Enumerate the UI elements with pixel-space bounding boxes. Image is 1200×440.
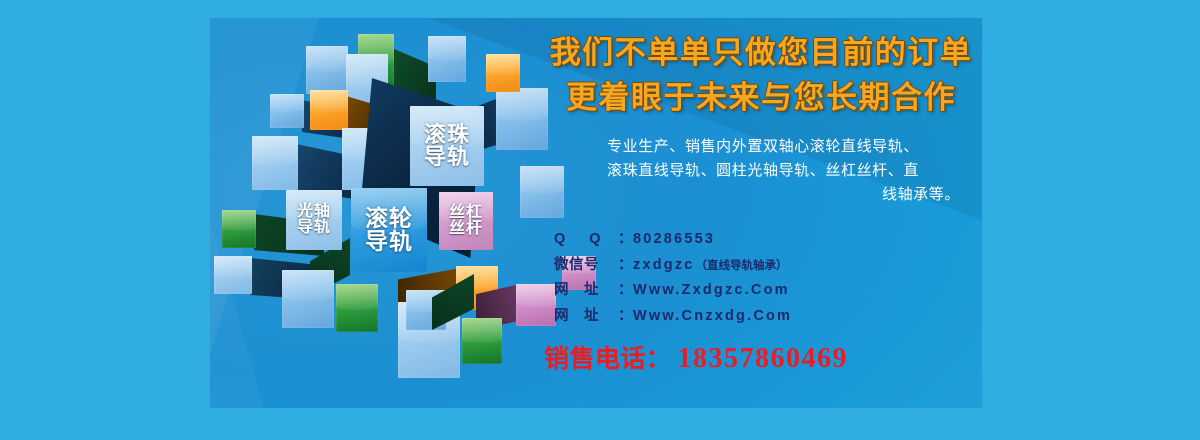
cube-face (214, 256, 252, 294)
sales-phone-number[interactable]: 18357860469 (678, 343, 849, 375)
tile-label-line2: 丝杆 (449, 221, 483, 237)
contact-value-website-2[interactable]: Www.Cnzxdg.Com (633, 308, 792, 324)
cube-decor (336, 284, 378, 332)
cube-decor (310, 90, 348, 130)
cube-face (310, 90, 348, 130)
headline-line-1: 我们不单单只做您目前的订单 (540, 32, 982, 73)
tile-label-line2: 导轨 (297, 220, 331, 236)
cube-decor (252, 136, 298, 190)
cube-face (336, 284, 378, 332)
contact-block: Q Q ： 80286553 微信号 ： zxdgzc （直线导轨轴承） 网 址… (540, 227, 982, 325)
tile-ball-rail[interactable]: 滚珠 导轨 (410, 106, 484, 186)
contact-row-wechat: 微信号 ： zxdgzc （直线导轨轴承） (554, 253, 982, 274)
contact-label: 网 址 (554, 304, 618, 325)
cube-face (462, 318, 502, 364)
contact-label: 网 址 (554, 278, 618, 299)
contact-value-wechat[interactable]: zxdgzc (633, 257, 695, 273)
contact-separator: ： (618, 304, 633, 325)
cube-face (270, 94, 304, 128)
contact-label: 微信号 (554, 253, 618, 274)
headline: 我们不单单只做您目前的订单 更着眼于未来与您长期合作 (540, 32, 982, 118)
tile-label-line1: 滚珠 (424, 124, 470, 146)
cube-face (428, 36, 466, 82)
cube-decor (306, 46, 348, 94)
cube-face (306, 46, 348, 94)
sales-phone-label: 销售电话： (544, 339, 672, 375)
tile-label-line1: 光轴 (297, 204, 331, 220)
cube-face (222, 210, 256, 248)
contact-row-website-1: 网 址 ： Www.Zxdgzc.Com (554, 278, 982, 299)
cube-decor (428, 36, 466, 82)
contact-label: Q Q (554, 231, 618, 247)
headline-line-2: 更着眼于未来与您长期合作 (540, 77, 982, 118)
cube-face (486, 54, 520, 92)
tile-screw-rod[interactable]: 丝杠 丝杆 (439, 192, 493, 250)
banner-copy-column: 我们不单单只做您目前的订单 更着眼于未来与您长期合作 专业生产、销售内外置双轴心… (540, 32, 982, 408)
contact-row-website-2: 网 址 ： Www.Cnzxdg.Com (554, 304, 982, 325)
description: 专业生产、销售内外置双轴心滚轮直线导轨、 滚珠直线导轨、圆柱光轴导轨、丝杠丝杆、… (540, 135, 982, 207)
tile-label-line1: 滚轮 (365, 207, 413, 230)
cube-decor (270, 94, 304, 128)
description-line-1: 专业生产、销售内外置双轴心滚轮直线导轨、 (566, 135, 960, 159)
tile-roller-rail[interactable]: 滚轮 导轨 (351, 188, 427, 272)
sales-phone[interactable]: 销售电话： 18357860469 (540, 339, 982, 375)
description-line-2: 滚珠直线导轨、圆柱光轴导轨、丝杠丝杆、直 (566, 159, 960, 183)
contact-value-website-1[interactable]: Www.Zxdgzc.Com (633, 282, 790, 298)
cube-decor (222, 210, 256, 248)
contact-separator: ： (618, 227, 633, 248)
tile-label-line2: 导轨 (424, 146, 470, 168)
contact-separator: ： (618, 278, 633, 299)
contact-value-qq[interactable]: 80286553 (633, 231, 715, 247)
description-line-3: 线轴承等。 (566, 183, 960, 207)
banner-stage: 滚珠 导轨 光轴 导轨 滚轮 导轨 丝杠 丝杆 (0, 0, 1200, 440)
contact-row-qq: Q Q ： 80286553 (554, 227, 982, 248)
contact-separator: ： (618, 253, 633, 274)
tile-label-line2: 导轨 (365, 230, 413, 253)
promo-banner-panel: 滚珠 导轨 光轴 导轨 滚轮 导轨 丝杠 丝杆 (210, 18, 982, 408)
contact-note-wechat: （直线导轨轴承） (696, 257, 788, 273)
cube-face (252, 136, 298, 190)
cube-decor (486, 54, 520, 92)
cube-decor (282, 270, 334, 328)
tile-shaft-rail[interactable]: 光轴 导轨 (286, 190, 342, 250)
cube-decor (214, 256, 252, 294)
cube-face (282, 270, 334, 328)
cube-decor (462, 318, 502, 364)
tile-label-line1: 丝杠 (449, 205, 483, 221)
